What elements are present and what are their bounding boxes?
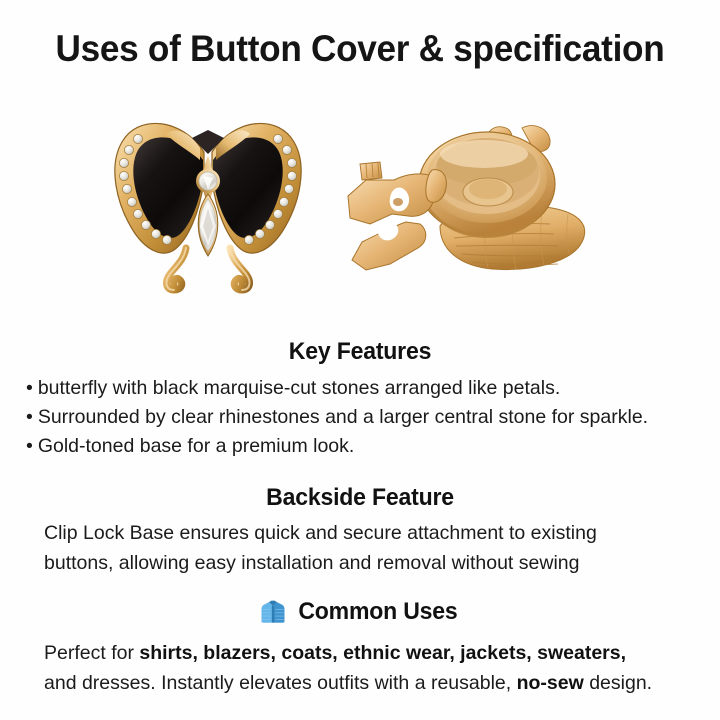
uses-part-4: design. — [584, 672, 652, 694]
butterfly-button-cover-front-image — [104, 108, 312, 298]
bullet-icon: • — [26, 377, 33, 399]
list-item-text: butterfly with black marquise-cut stones… — [38, 377, 560, 399]
common-uses-heading: Common Uses — [298, 598, 457, 626]
key-features-heading: Key Features — [14, 338, 705, 366]
jacket-icon — [260, 599, 286, 625]
list-item: •Surrounded by clear rhinestones and a l… — [26, 403, 698, 432]
infographic-page: Uses of Button Cover & specification — [0, 0, 720, 720]
uses-part-2: and dresses. Instantly elevates outfits … — [44, 672, 517, 694]
uses-part-1: shirts, blazers, coats, ethnic wear, jac… — [139, 642, 626, 664]
bullet-icon: • — [26, 406, 33, 428]
backside-feature-heading: Backside Feature — [14, 484, 705, 512]
backside-feature-body: Clip Lock Base ensures quick and secure … — [44, 518, 629, 578]
common-uses-heading-row: Common Uses — [0, 598, 720, 626]
list-item: •butterfly with black marquise-cut stone… — [26, 374, 698, 403]
list-item-text: Gold-toned base for a premium look. — [38, 435, 355, 457]
key-features-list: •butterfly with black marquise-cut stone… — [26, 374, 698, 461]
list-item-text: Surrounded by clear rhinestones and a la… — [38, 406, 648, 428]
uses-part-0: Perfect for — [44, 642, 139, 664]
bullet-icon: • — [26, 435, 33, 457]
backside-line-1: Clip Lock Base ensures quick and secure … — [44, 522, 597, 544]
uses-part-3: no-sew — [517, 672, 584, 694]
product-image-band — [0, 108, 720, 304]
page-title: Uses of Button Cover & specification — [18, 28, 702, 70]
common-uses-body: Perfect for shirts, blazers, coats, ethn… — [44, 638, 654, 698]
backside-line-2: buttons, allowing easy installation and … — [44, 552, 579, 574]
butterfly-button-cover-back-image — [336, 114, 598, 294]
list-item: •Gold-toned base for a premium look. — [26, 432, 698, 461]
